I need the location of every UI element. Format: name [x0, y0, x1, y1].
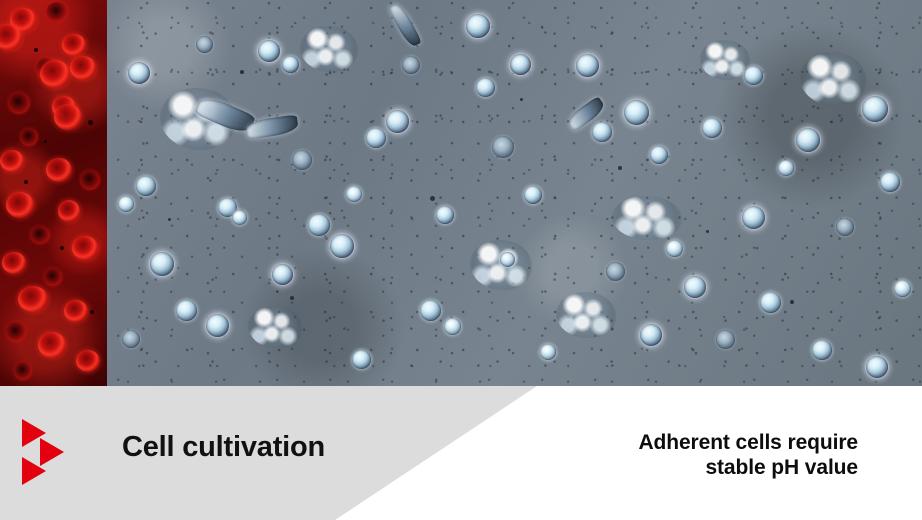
banner-title: Cell cultivation [122, 430, 325, 464]
cell [466, 14, 490, 38]
cell [510, 54, 531, 75]
cell [666, 240, 683, 257]
cell [640, 324, 662, 346]
cell [836, 218, 854, 236]
debris-speck [44, 140, 47, 143]
fluorescent-cell [46, 2, 68, 22]
fluorescent-cell [40, 60, 70, 88]
cell [796, 128, 820, 152]
phase-contrast-micrograph [0, 0, 922, 386]
triangle-icon [22, 457, 46, 485]
fluorescent-cell [80, 170, 100, 190]
fluorescent-cell [46, 158, 72, 182]
cell [352, 350, 371, 369]
cell [176, 300, 197, 321]
cell [366, 128, 386, 148]
cell [330, 234, 354, 258]
debris-speck [706, 230, 709, 233]
cell [778, 160, 794, 176]
cell [258, 40, 280, 62]
cell [420, 300, 441, 321]
cell [500, 252, 515, 267]
fluorescent-cell [18, 286, 48, 312]
cell [292, 150, 312, 170]
debris-speck [24, 180, 28, 184]
fluorescent-cell [70, 56, 96, 80]
debris-speck [430, 196, 435, 201]
fluorescent-cell [2, 252, 26, 274]
cell-cluster [248, 306, 302, 348]
cell-cluster [300, 26, 358, 72]
cell [592, 122, 612, 142]
cell-layer [0, 0, 922, 386]
debris-speck [34, 48, 38, 52]
fluorescent-cell [0, 24, 22, 50]
cell [136, 176, 156, 196]
debris-speck [90, 310, 94, 314]
debris-speck [790, 300, 794, 304]
cell [346, 186, 362, 202]
micrograph-photo-area [0, 0, 922, 386]
fluorescent-cell [6, 322, 26, 342]
cell [282, 56, 299, 73]
cell [650, 146, 668, 164]
cell [702, 118, 722, 138]
cell [128, 62, 150, 84]
cell-cluster [470, 240, 532, 290]
triangle-logo [22, 419, 84, 485]
cell [476, 78, 495, 97]
cell [862, 96, 888, 122]
debris-speck [240, 70, 244, 74]
cell [540, 344, 556, 360]
fluorescent-cell [30, 226, 50, 244]
cell [308, 214, 330, 236]
cell [624, 100, 649, 125]
fluorescent-cell [0, 150, 24, 172]
fluorescent-cell [8, 92, 30, 114]
cell [894, 280, 911, 297]
fluorescent-cell [44, 268, 62, 286]
fluorescent-cell [14, 362, 32, 380]
cell [880, 172, 900, 192]
cell [524, 186, 542, 204]
cell [760, 292, 781, 313]
debris-speck [60, 246, 64, 250]
debris-speck [618, 166, 622, 170]
cell [272, 264, 293, 285]
cell [436, 206, 454, 224]
cell [150, 252, 174, 276]
tagline-line-2: stable pH value [538, 455, 858, 480]
cell [118, 196, 134, 212]
debris-speck [290, 296, 294, 300]
cell [122, 330, 140, 348]
cell [444, 318, 461, 335]
cell [684, 276, 706, 298]
cell-cluster [556, 292, 616, 338]
cell [232, 210, 247, 225]
cell [812, 340, 832, 360]
cell-cluster [800, 52, 866, 106]
cell [576, 54, 599, 77]
fluorescent-cell [54, 104, 82, 130]
cell [402, 56, 420, 74]
cell [206, 314, 229, 337]
fluorescent-cell [38, 332, 66, 358]
debris-speck [168, 218, 171, 221]
fluorescent-cell [64, 300, 88, 322]
banner-stage: Cell cultivation Adherent cells require … [0, 0, 922, 520]
fluorescent-cell [76, 350, 100, 372]
banner-tagline: Adherent cells require stable pH value [538, 430, 858, 480]
cell [196, 36, 213, 53]
cell-cluster [700, 40, 750, 80]
tagline-line-1: Adherent cells require [638, 431, 858, 454]
spindle-cell [388, 1, 422, 48]
cell [866, 356, 888, 378]
cell [716, 330, 735, 349]
cell-cluster [612, 196, 682, 240]
debris-speck [88, 120, 93, 125]
debris-speck [520, 98, 523, 101]
cell [386, 110, 409, 133]
fluorescent-cell [6, 192, 34, 218]
fluorescent-cell [62, 34, 86, 56]
cell [492, 136, 514, 158]
cell [744, 66, 763, 85]
cell [742, 206, 765, 229]
fluorescent-cell [20, 128, 38, 146]
fluorescent-cell [72, 236, 98, 260]
cell [606, 262, 625, 281]
fluorescent-cell [58, 200, 80, 222]
red-fluorescence-pane [0, 0, 107, 386]
